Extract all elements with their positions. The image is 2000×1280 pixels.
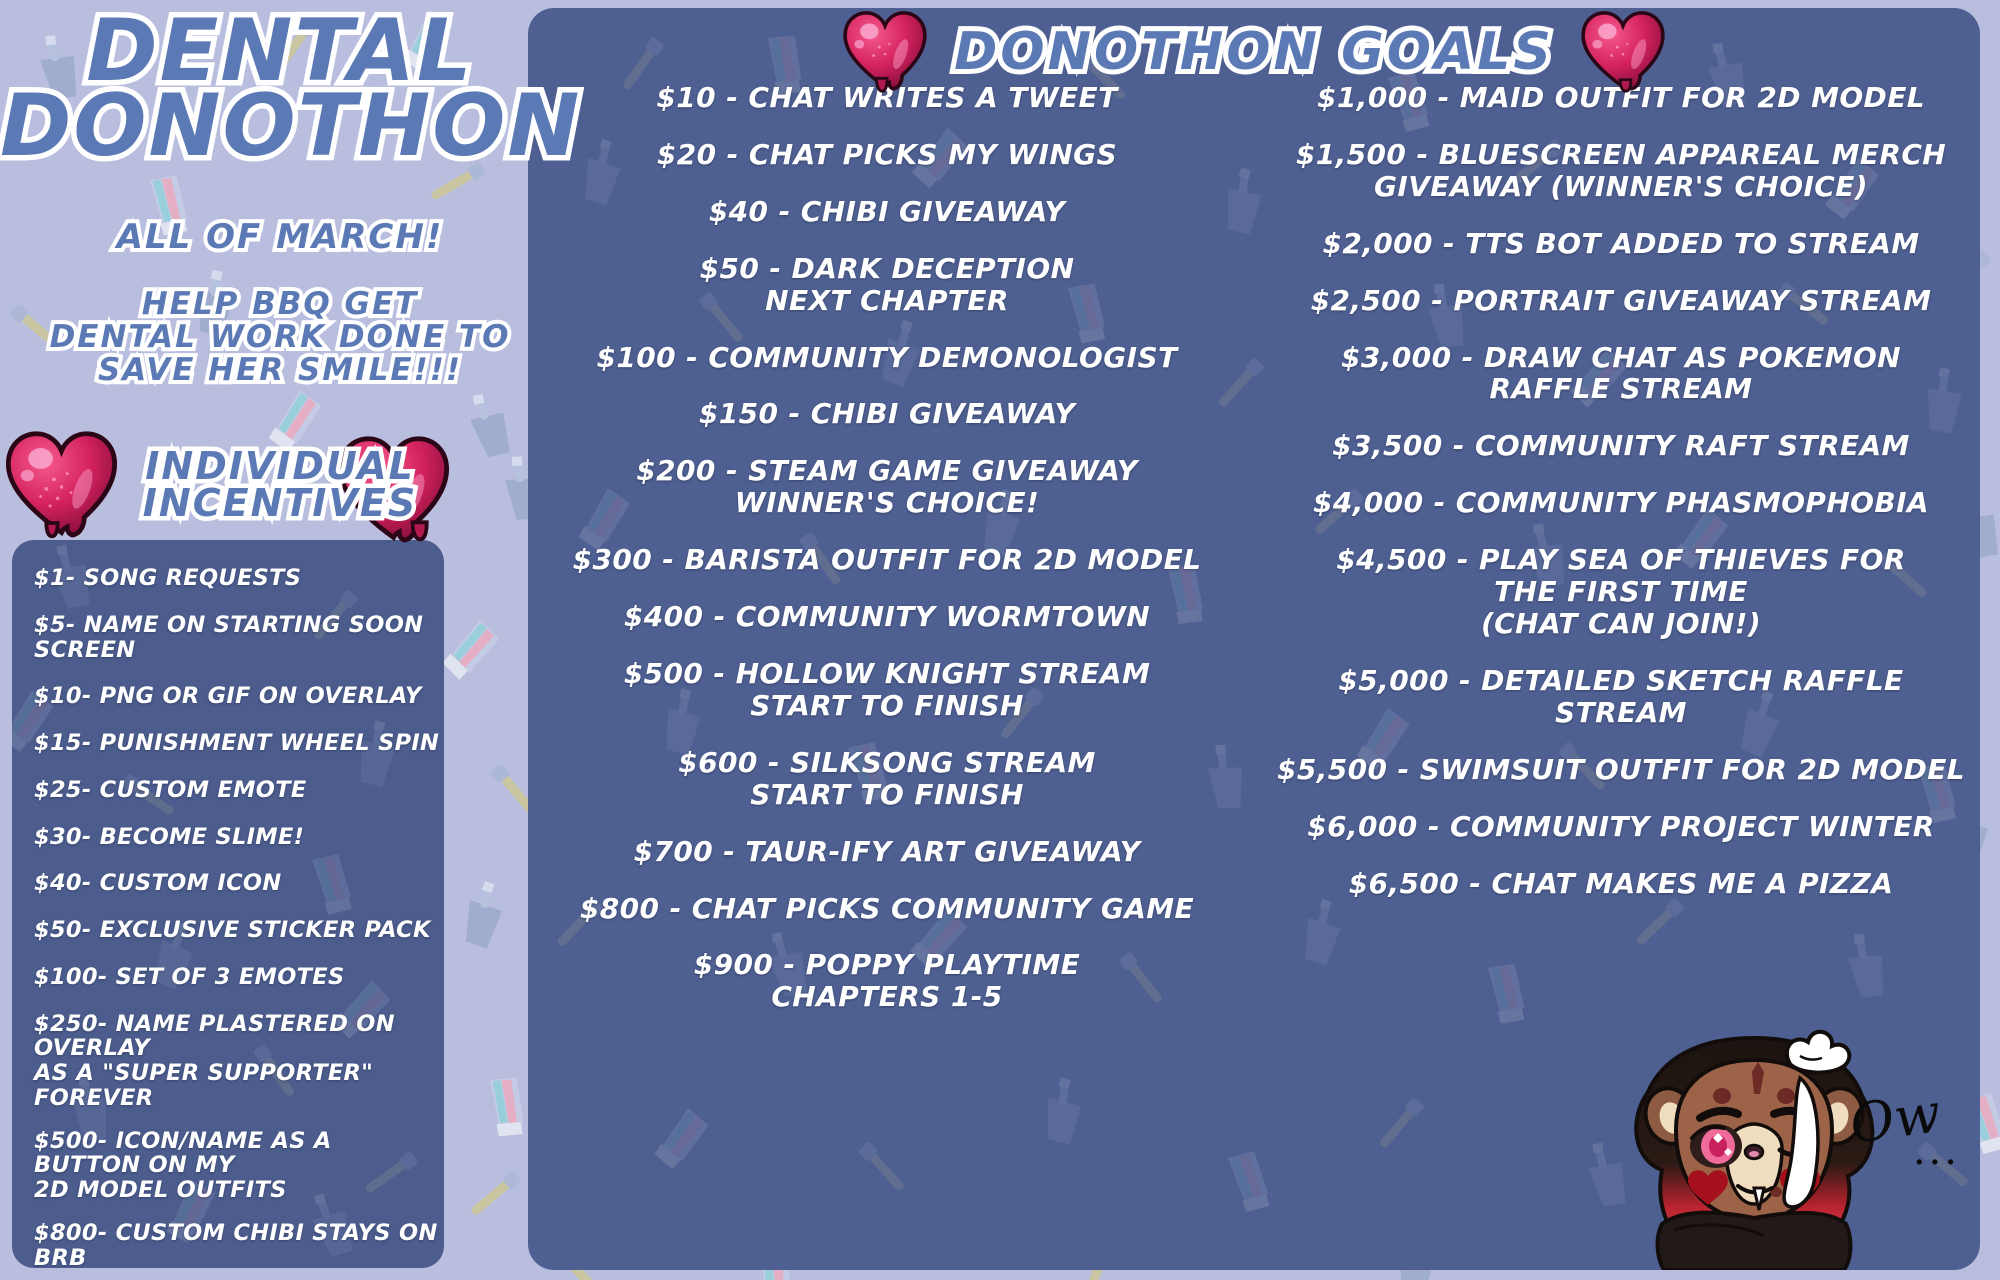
individual-incentives-panel: $1- SONG REQUESTS$5- NAME ON STARTING SO… bbox=[12, 540, 444, 1268]
goal-item: $20 - CHAT PICKS MY WINGS bbox=[534, 139, 1240, 171]
page-title: DENTAL DONOTHON bbox=[0, 12, 560, 166]
goal-item: $5,000 - DETAILED SKETCH RAFFLE STREAM bbox=[1268, 665, 1974, 729]
goal-item: $150 - CHIBI GIVEAWAY bbox=[534, 398, 1240, 430]
goal-item: $800 - CHAT PICKS COMMUNITY GAME bbox=[534, 893, 1240, 925]
goal-item: $100 - COMMUNITY DEMONOLOGIST bbox=[534, 342, 1240, 374]
goal-item: $1,500 - BLUESCREEN APPAREAL MERCH GIVEA… bbox=[1268, 139, 1974, 203]
goal-item: $700 - TAUR-IFY ART GIVEAWAY bbox=[534, 836, 1240, 868]
goal-item: $50 - DARK DECEPTION NEXT CHAPTER bbox=[534, 253, 1240, 317]
incentive-item: $100- SET OF 3 EMOTES bbox=[34, 965, 444, 990]
tagline: HELP BBQ GET DENTAL WORK DONE TO SAVE HE… bbox=[0, 288, 560, 387]
subtitle-month: ALL OF MARCH! bbox=[0, 222, 560, 253]
incentive-item: $250- NAME PLASTERED ON OVERLAY AS A "SU… bbox=[34, 1012, 444, 1111]
incentive-item: $30- BECOME SLIME! bbox=[34, 825, 444, 850]
goal-item: $4,500 - PLAY SEA OF THIEVES FOR THE FIR… bbox=[1268, 544, 1974, 640]
goal-item: $200 - STEAM GAME GIVEAWAY WINNER'S CHOI… bbox=[534, 455, 1240, 519]
dripping-heart-icon bbox=[1580, 10, 1666, 94]
donothon-goals-title: DONOTHON GOALS bbox=[954, 22, 1554, 82]
incentive-item: $800- CUSTOM CHIBI STAYS ON BRB SCREEN F… bbox=[34, 1221, 444, 1268]
incentive-item: $40- CUSTOM ICON bbox=[34, 871, 444, 896]
goal-item: $500 - HOLLOW KNIGHT STREAM START TO FIN… bbox=[534, 658, 1240, 722]
goal-item: $4,000 - COMMUNITY PHASMOPHOBIA bbox=[1268, 487, 1974, 519]
goal-item: $300 - BARISTA OUTFIT FOR 2D MODEL bbox=[534, 544, 1240, 576]
individual-incentives-heading: INDIVIDUAL INCENTIVES bbox=[60, 448, 500, 522]
incentive-item: $1- SONG REQUESTS bbox=[34, 566, 444, 591]
incentive-item: $10- PNG OR GIF ON OVERLAY bbox=[34, 684, 444, 709]
individual-incentives-list: $1- SONG REQUESTS$5- NAME ON STARTING SO… bbox=[12, 540, 444, 1268]
goal-item: $2,500 - PORTRAIT GIVEAWAY STREAM bbox=[1268, 285, 1974, 317]
title-line-2: DONOTHON bbox=[0, 87, 560, 166]
mascot-speech-dots: ... bbox=[1913, 1128, 1960, 1174]
goal-item: $900 - POPPY PLAYTIME CHAPTERS 1-5 bbox=[534, 949, 1240, 1013]
incentive-item: $500- ICON/NAME AS A BUTTON ON MY 2D MOD… bbox=[34, 1129, 444, 1203]
goal-item: $3,000 - DRAW CHAT AS POKEMON RAFFLE STR… bbox=[1268, 342, 1974, 406]
left-column: DENTAL DONOTHON ALL OF MARCH! HELP BBQ G… bbox=[0, 0, 560, 1280]
incentive-item: $25- CUSTOM EMOTE bbox=[34, 778, 444, 803]
goals-column-left: $10 - CHAT WRITES A TWEET$20 - CHAT PICK… bbox=[528, 82, 1254, 1262]
goal-item: $6,500 - CHAT MAKES ME A PIZZA bbox=[1268, 868, 1974, 900]
donothon-goals-header: DONOTHON GOALS bbox=[528, 12, 1980, 92]
donothon-goals-panel: DONOTHON GOALS $10 - CHAT WRITES A TWEET… bbox=[528, 8, 1980, 1270]
incentive-item: $15- PUNISHMENT WHEEL SPIN bbox=[34, 731, 444, 756]
goal-item: $400 - COMMUNITY WORMTOWN bbox=[534, 601, 1240, 633]
incentive-item: $50- EXCLUSIVE STICKER PACK bbox=[34, 918, 444, 943]
goal-item: $40 - CHIBI GIVEAWAY bbox=[534, 196, 1240, 228]
goal-item: $3,500 - COMMUNITY RAFT STREAM bbox=[1268, 430, 1974, 462]
dripping-heart-icon bbox=[842, 10, 928, 94]
goal-item: $5,500 - SWIMSUIT OUTFIT FOR 2D MODEL bbox=[1268, 754, 1974, 786]
goal-item: $6,000 - COMMUNITY PROJECT WINTER bbox=[1268, 811, 1974, 843]
incentive-item: $5- NAME ON STARTING SOON SCREEN bbox=[34, 613, 444, 663]
goal-item: $600 - SILKSONG STREAM START TO FINISH bbox=[534, 747, 1240, 811]
goal-item: $2,000 - TTS BOT ADDED TO STREAM bbox=[1268, 228, 1974, 260]
